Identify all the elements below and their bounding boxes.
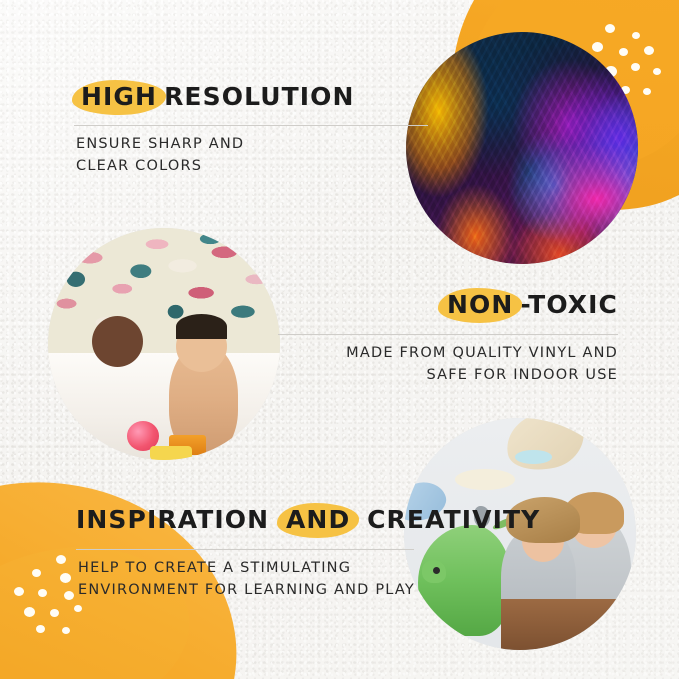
feature-high-resolution-headline: HIGHRESOLUTION (74, 82, 404, 112)
baby-left-head (92, 316, 143, 367)
headline-rest-toxic: -TOXIC (520, 290, 618, 319)
wooden-desk (501, 599, 636, 650)
feature-non-toxic-body-wrap: MADE FROM QUALITY VINYL AND SAFE FOR IND… (288, 342, 618, 387)
abstract-fluid-art-photo (406, 32, 638, 264)
feature-inspiration-creativity-headline: INSPIRATION AND CREATIVITY (76, 505, 436, 535)
feature-high-resolution-body-wrap: ENSURE SHARP AND CLEAR COLORS (76, 133, 396, 178)
green-dinosaur-head (422, 560, 446, 582)
feature-non-toxic-body: MADE FROM QUALITY VINYL AND SAFE FOR IND… (288, 342, 618, 387)
infographic-canvas: HIGHRESOLUTION ENSURE SHARP AND CLEAR CO… (0, 0, 679, 679)
feature-inspiration-creativity-body-wrap: HELP TO CREATE A STIMULATING ENVIRONMENT… (78, 557, 418, 602)
headline-highlight-and: AND (279, 505, 357, 535)
feature-high-resolution: HIGHRESOLUTION (74, 82, 404, 112)
baby-right-hair (176, 314, 227, 340)
headline-rest-resolution: RESOLUTION (164, 82, 354, 111)
green-dinosaur-decal (418, 525, 511, 636)
feature-inspiration-creativity: INSPIRATION AND CREATIVITY (76, 505, 436, 535)
toy-yellow-block (150, 446, 192, 460)
feature-inspiration-creativity-divider (76, 549, 414, 550)
feature-high-resolution-connector (414, 125, 428, 126)
headline-rest-creativity: CREATIVITY (367, 505, 540, 534)
bed-linen (48, 353, 280, 460)
cloud-decal (455, 469, 515, 490)
feature-high-resolution-divider (74, 125, 414, 126)
headline-highlight-high: HIGH (74, 82, 164, 112)
feature-high-resolution-body: ENSURE SHARP AND CLEAR COLORS (76, 133, 396, 178)
feature-inspiration-creativity-body: HELP TO CREATE A STIMULATING ENVIRONMENT… (78, 557, 418, 602)
feature-non-toxic-divider (278, 334, 618, 335)
headline-highlight-non: NON (440, 290, 520, 320)
kids-dinosaur-wall-decals-photo (404, 418, 636, 650)
floral-wallpaper (48, 228, 280, 363)
pterodactyl-decal (501, 418, 590, 477)
feature-non-toxic: NON-TOXIC (288, 290, 618, 320)
babies-floral-wallpaper-photo (48, 228, 280, 460)
headline-prefix-inspiration: INSPIRATION (76, 505, 269, 534)
feature-non-toxic-headline: NON-TOXIC (288, 290, 618, 320)
